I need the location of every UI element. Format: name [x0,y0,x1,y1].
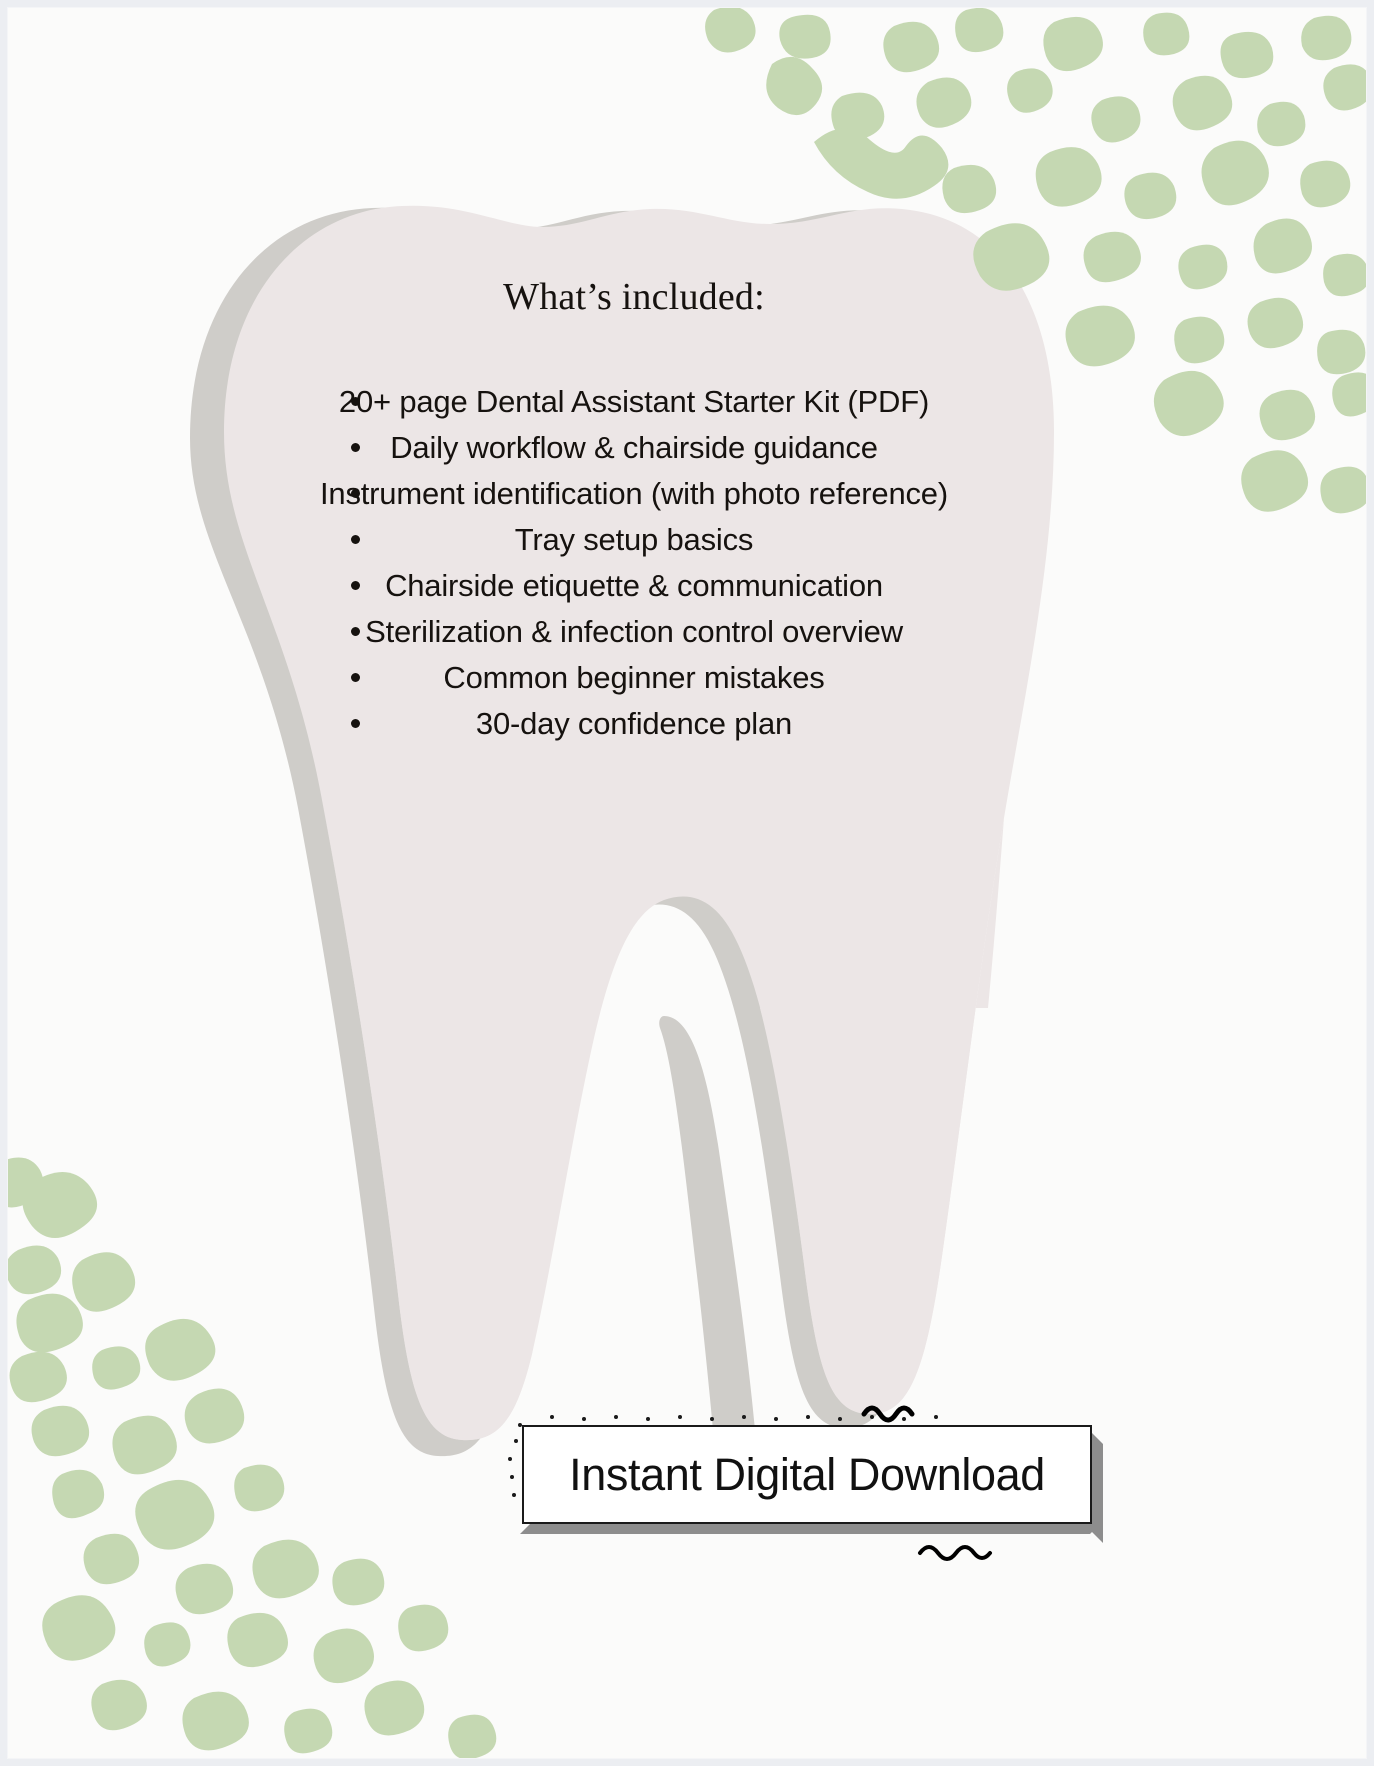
list-item: Instrument identification (with photo re… [304,468,964,519]
included-list: 20+ page Dental Assistant Starter Kit (P… [304,376,964,749]
list-item-label: 30-day confidence plan [476,706,792,741]
list-item-label: Daily workflow & chairside guidance [390,430,878,465]
list-item-label: 20+ page Dental Assistant Starter Kit (P… [339,384,929,419]
list-item-label: Common beginner mistakes [443,660,824,695]
list-item: Sterilization & infection control overvi… [304,606,964,657]
bullet-icon [351,581,360,590]
squiggle-icon-bottom [916,1539,994,1565]
bullet-icon [351,397,360,406]
list-item: Chairside etiquette & communication [304,560,964,611]
tooth-text-block: What’s included: 20+ page Dental Assista… [304,276,964,744]
bullet-icon [351,673,360,682]
included-heading: What’s included: [304,276,964,320]
list-item: Common beginner mistakes [304,652,964,703]
instant-download-label: Instant Digital Download [569,1449,1045,1501]
list-item: Tray setup basics [304,514,964,565]
bullet-icon [351,719,360,728]
list-item: 20+ page Dental Assistant Starter Kit (P… [304,376,964,427]
list-item-label: Instrument identification (with photo re… [320,476,948,511]
bullet-icon [351,443,360,452]
bullet-icon [351,489,360,498]
poster-canvas: What’s included: 20+ page Dental Assista… [8,8,1366,1758]
list-item-label: Sterilization & infection control overvi… [365,614,903,649]
bullet-icon [351,535,360,544]
poster-page: What’s included: 20+ page Dental Assista… [0,0,1374,1766]
list-item: Daily workflow & chairside guidance [304,422,964,473]
list-item-label: Chairside etiquette & communication [385,568,883,603]
bullet-icon [351,627,360,636]
list-item: 30-day confidence plan [304,698,964,749]
list-item-label: Tray setup basics [515,522,753,557]
banner-shadow-bottom [520,1524,1100,1534]
instant-download-banner: Instant Digital Download [496,1403,1106,1593]
instant-download-box[interactable]: Instant Digital Download [522,1425,1092,1524]
